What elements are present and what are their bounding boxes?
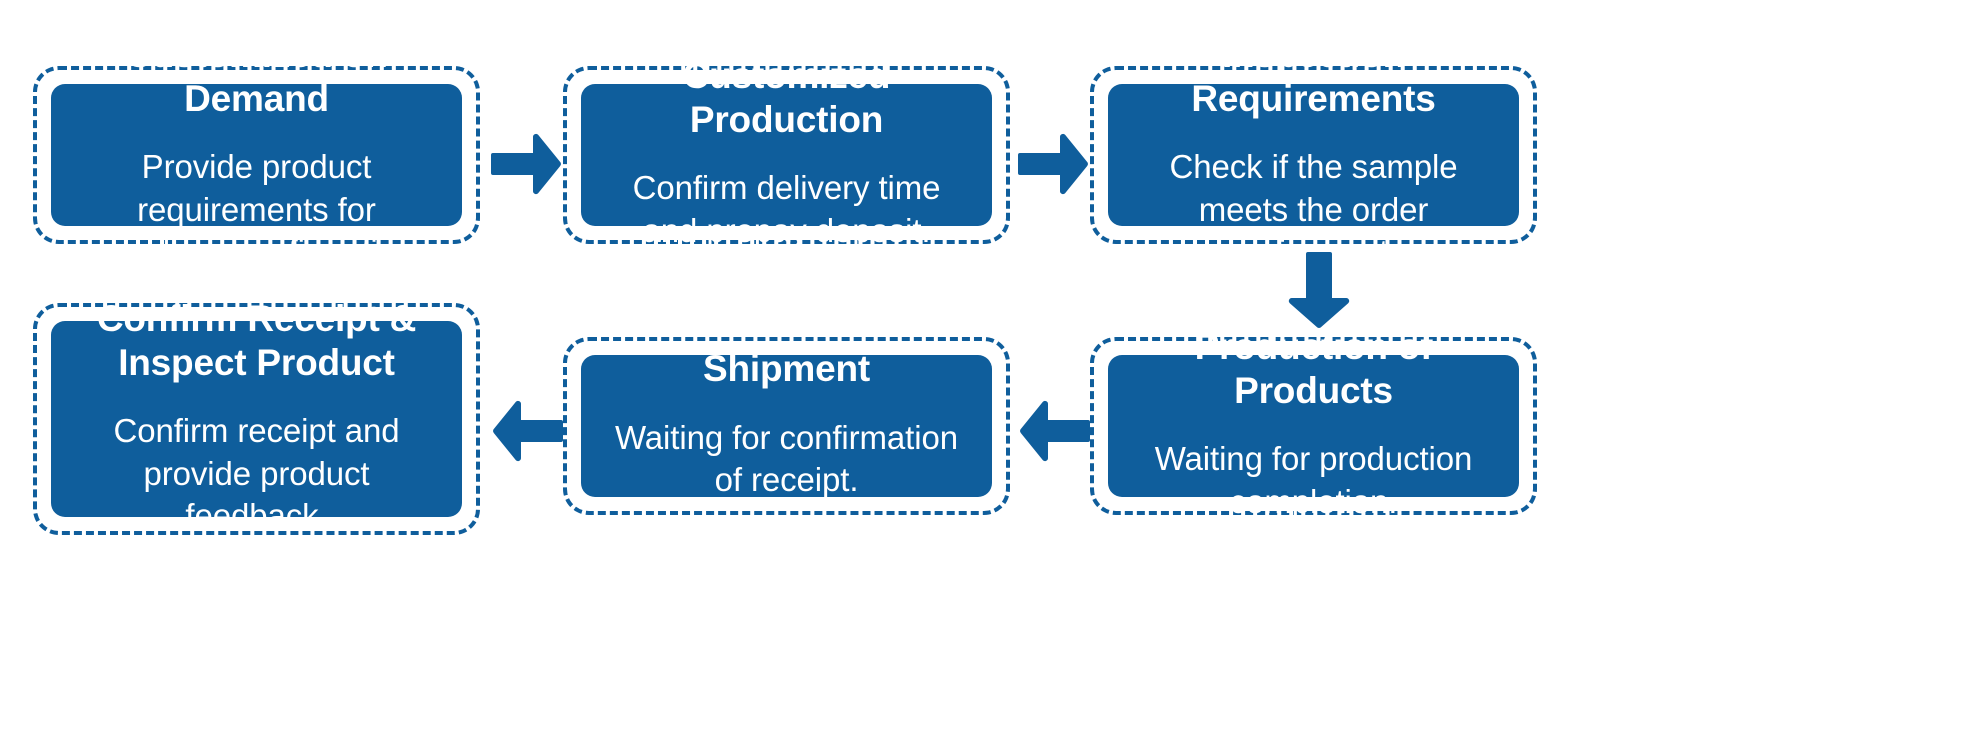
node-description: Waiting for production completion. (1134, 438, 1493, 522)
process-node-confirm-receipt-inspect-product[interactable]: Confirm Receipt & Inspect Product Confir… (33, 303, 480, 535)
node-title: Confirm Receipt & Inspect Product (97, 297, 416, 384)
node-description: Confirm delivery time and prepay deposit… (607, 167, 966, 251)
node-body: Production of Products Waiting for produ… (1108, 355, 1519, 497)
node-description: Waiting for confirmation of receipt. (607, 417, 966, 501)
node-title: Inspection Requirements (1134, 33, 1493, 120)
process-node-customized-on-demand[interactable]: Customized on Demand Provide product req… (33, 66, 480, 244)
flowchart-canvas: Customized on Demand Provide product req… (0, 0, 1967, 741)
process-node-shipment[interactable]: Shipment Waiting for confirmation of rec… (563, 337, 1010, 515)
node-body: Confirm Receipt & Inspect Product Confir… (51, 321, 462, 517)
arrow-right-icon (491, 133, 563, 195)
node-title: Shipment (703, 347, 870, 391)
node-description: Confirm receipt and provide product feed… (77, 410, 436, 537)
node-body: Inspection Requirements Check if the sam… (1108, 84, 1519, 226)
node-description: Provide product requirements for merchan… (77, 146, 436, 273)
node-body: Shipment Waiting for confirmation of rec… (581, 355, 992, 497)
node-title: Customized on Demand (77, 33, 436, 120)
node-body: Customized Production Confirm delivery t… (581, 84, 992, 226)
node-body: Customized on Demand Provide product req… (51, 84, 462, 226)
node-title: Customized Production (607, 54, 966, 141)
process-node-production-of-products[interactable]: Production of Products Waiting for produ… (1090, 337, 1537, 515)
arrow-left-icon (1018, 400, 1090, 462)
process-node-inspection-requirements[interactable]: Inspection Requirements Check if the sam… (1090, 66, 1537, 244)
arrow-left-icon (491, 400, 563, 462)
process-node-customized-production[interactable]: Customized Production Confirm delivery t… (563, 66, 1010, 244)
arrow-right-icon (1018, 133, 1090, 195)
node-title: Production of Products (1134, 325, 1493, 412)
arrow-down-icon (1288, 250, 1350, 330)
